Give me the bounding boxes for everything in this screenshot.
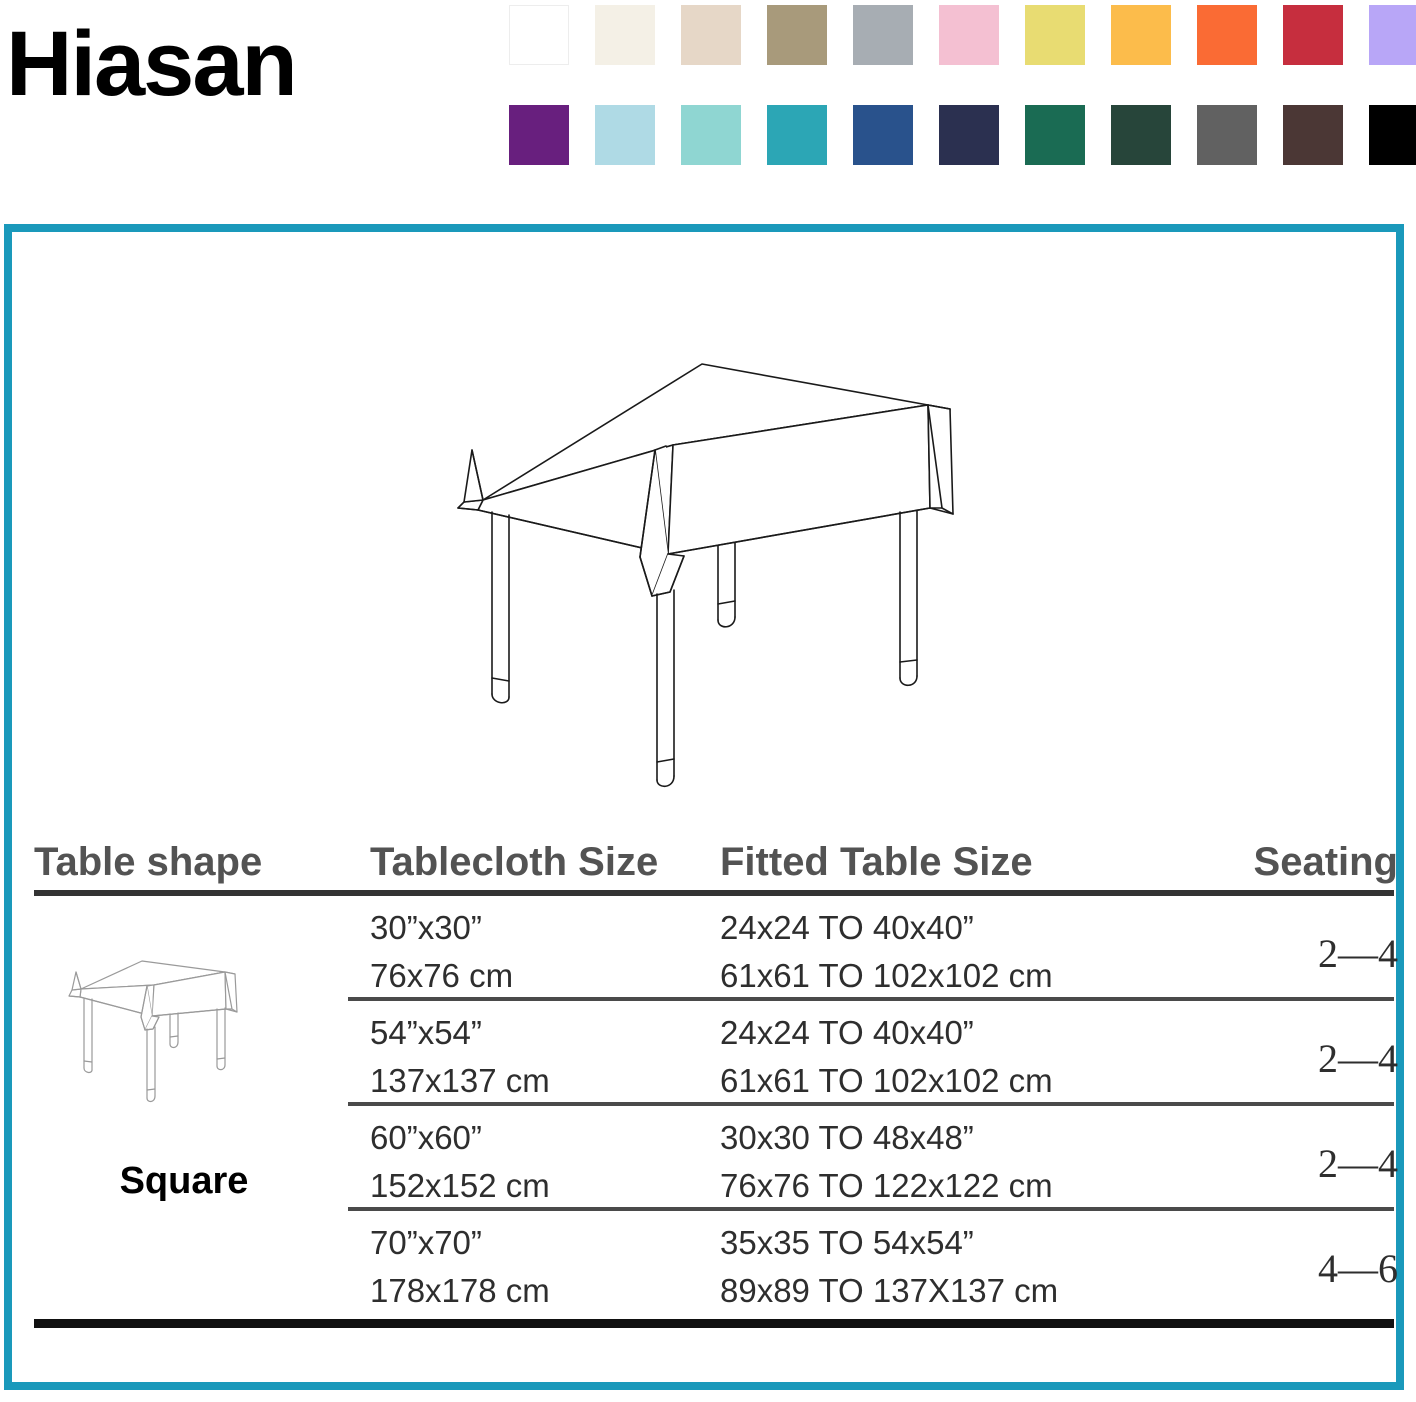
color-swatch-orange[interactable] bbox=[1197, 5, 1257, 65]
cell-tablecloth-size: 30”x30” 76x76 cm bbox=[370, 896, 720, 1000]
color-swatch-yellow[interactable] bbox=[1025, 5, 1085, 65]
column-header-tablecloth-size: Tablecloth Size bbox=[370, 842, 720, 882]
color-swatch-gold[interactable] bbox=[1111, 5, 1171, 65]
color-swatch-row-2 bbox=[509, 105, 1409, 165]
header-band: Hiasan bbox=[0, 0, 1416, 200]
brand-logo: Hiasan bbox=[6, 18, 296, 110]
color-swatch-grid bbox=[509, 5, 1409, 205]
color-swatch-purple[interactable] bbox=[509, 105, 569, 165]
cloth-size-cm: 178x178 cm bbox=[370, 1267, 720, 1315]
color-swatch-dark-navy[interactable] bbox=[939, 105, 999, 165]
color-swatch-green[interactable] bbox=[1025, 105, 1085, 165]
color-swatch-lavender[interactable] bbox=[1369, 5, 1416, 65]
color-swatch-ivory[interactable] bbox=[595, 5, 655, 65]
fitted-size-inches: 35x35 TO 54x54” bbox=[720, 1224, 974, 1261]
color-swatch-aqua[interactable] bbox=[681, 105, 741, 165]
cell-tablecloth-size: 70”x70” 178x178 cm bbox=[370, 1211, 720, 1315]
cell-fitted-size: 30x30 TO 48x48” 76x76 TO 122x122 cm bbox=[720, 1106, 1190, 1210]
square-tablecloth-table-illustration bbox=[430, 342, 978, 812]
fitted-size-inches: 24x24 TO 40x40” bbox=[720, 1014, 974, 1051]
color-swatch-red[interactable] bbox=[1283, 5, 1343, 65]
table-shape-label: Square bbox=[34, 1160, 334, 1203]
size-chart-panel: Table shape Tablecloth Size Fitted Table… bbox=[4, 224, 1404, 1390]
fitted-size-cm: 61x61 TO 102x102 cm bbox=[720, 952, 1190, 1000]
color-swatch-light-blue[interactable] bbox=[595, 105, 655, 165]
square-table-icon bbox=[59, 956, 309, 1156]
color-swatch-black[interactable] bbox=[1369, 105, 1416, 165]
column-header-table-shape: Table shape bbox=[34, 842, 370, 882]
fitted-size-cm: 61x61 TO 102x102 cm bbox=[720, 1057, 1190, 1105]
cell-seating: 2—4 bbox=[1190, 1106, 1398, 1187]
cloth-size-inches: 54”x54” bbox=[370, 1014, 482, 1051]
fitted-size-inches: 24x24 TO 40x40” bbox=[720, 909, 974, 946]
color-swatch-taupe[interactable] bbox=[767, 5, 827, 65]
color-swatch-beige[interactable] bbox=[681, 5, 741, 65]
color-swatch-charcoal-gray[interactable] bbox=[1197, 105, 1257, 165]
color-swatch-teal[interactable] bbox=[767, 105, 827, 165]
table-bottom-divider bbox=[34, 1319, 1394, 1328]
size-table-header-row: Table shape Tablecloth Size Fitted Table… bbox=[34, 816, 1398, 882]
cloth-size-inches: 60”x60” bbox=[370, 1119, 482, 1156]
color-swatch-row-1 bbox=[509, 5, 1409, 65]
cloth-size-inches: 30”x30” bbox=[370, 909, 482, 946]
table-row: 70”x70” 178x178 cm 35x35 TO 54x54” 89x89… bbox=[34, 1211, 1398, 1316]
color-swatch-navy-blue[interactable] bbox=[853, 105, 913, 165]
fitted-size-cm: 89x89 TO 137X137 cm bbox=[720, 1267, 1190, 1315]
fitted-size-cm: 76x76 TO 122x122 cm bbox=[720, 1162, 1190, 1210]
color-swatch-dark-green[interactable] bbox=[1111, 105, 1171, 165]
cloth-size-cm: 152x152 cm bbox=[370, 1162, 720, 1210]
color-swatch-white[interactable] bbox=[509, 5, 569, 65]
color-swatch-dark-brown[interactable] bbox=[1283, 105, 1343, 165]
column-header-seating: Seating bbox=[1190, 842, 1398, 882]
cell-fitted-size: 35x35 TO 54x54” 89x89 TO 137X137 cm bbox=[720, 1211, 1190, 1315]
cloth-size-cm: 76x76 cm bbox=[370, 952, 720, 1000]
fitted-size-inches: 30x30 TO 48x48” bbox=[720, 1119, 974, 1156]
color-swatch-gray[interactable] bbox=[853, 5, 913, 65]
cell-seating: 2—4 bbox=[1190, 1001, 1398, 1082]
cloth-size-cm: 137x137 cm bbox=[370, 1057, 720, 1105]
cloth-size-inches: 70”x70” bbox=[370, 1224, 482, 1261]
cell-tablecloth-size: 60”x60” 152x152 cm bbox=[370, 1106, 720, 1210]
color-swatch-pink[interactable] bbox=[939, 5, 999, 65]
cell-tablecloth-size: 54”x54” 137x137 cm bbox=[370, 1001, 720, 1105]
cell-fitted-size: 24x24 TO 40x40” 61x61 TO 102x102 cm bbox=[720, 896, 1190, 1000]
table-shape-cell: Square bbox=[34, 956, 334, 1203]
column-header-fitted-size: Fitted Table Size bbox=[720, 842, 1190, 882]
cell-seating: 2—4 bbox=[1190, 896, 1398, 977]
cell-fitted-size: 24x24 TO 40x40” 61x61 TO 102x102 cm bbox=[720, 1001, 1190, 1105]
cell-seating: 4—6 bbox=[1190, 1211, 1398, 1292]
